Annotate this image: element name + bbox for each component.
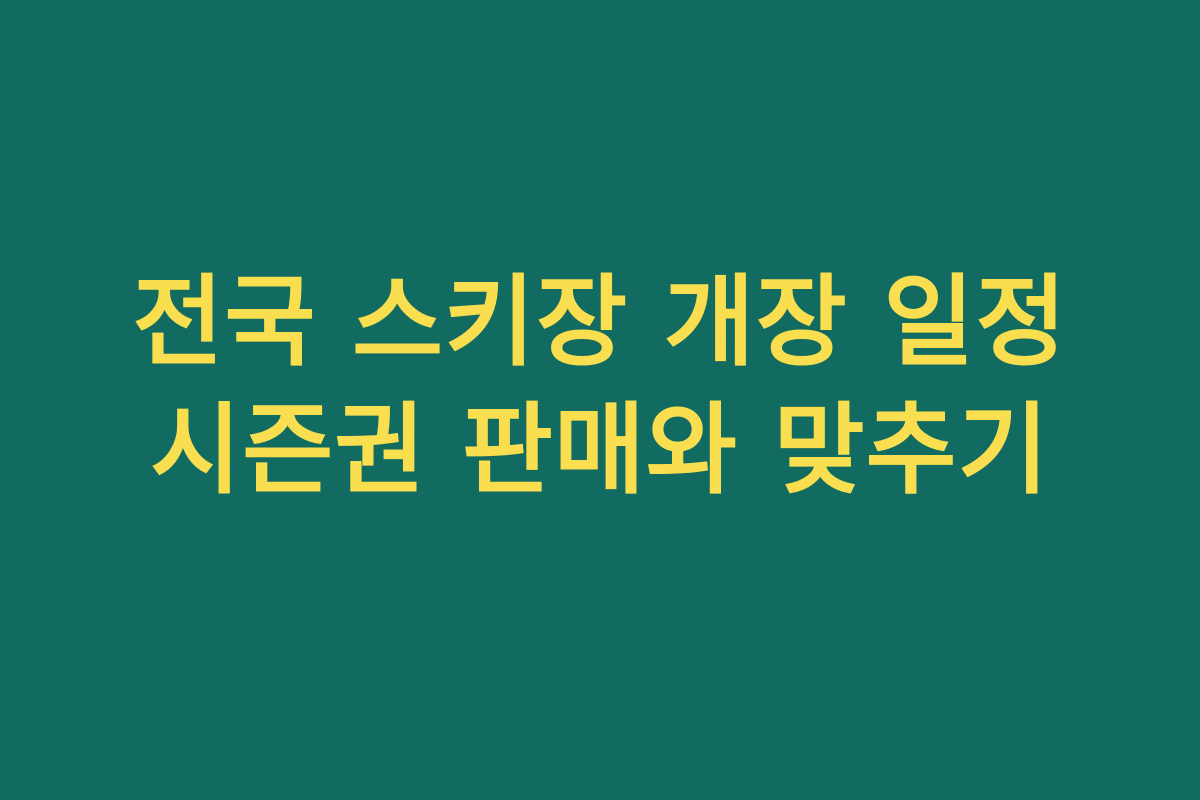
headline-line-1: 전국 스키장 개장 일정 — [0, 259, 1200, 387]
banner-canvas: 전국 스키장 개장 일정 시즌권 판매와 맞추기 — [0, 0, 1200, 800]
page-title: 전국 스키장 개장 일정 시즌권 판매와 맞추기 — [0, 259, 1200, 516]
headline-line-2: 시즌권 판매와 맞추기 — [0, 387, 1200, 515]
headline-stack: 전국 스키장 개장 일정 시즌권 판매와 맞추기 — [0, 259, 1200, 516]
